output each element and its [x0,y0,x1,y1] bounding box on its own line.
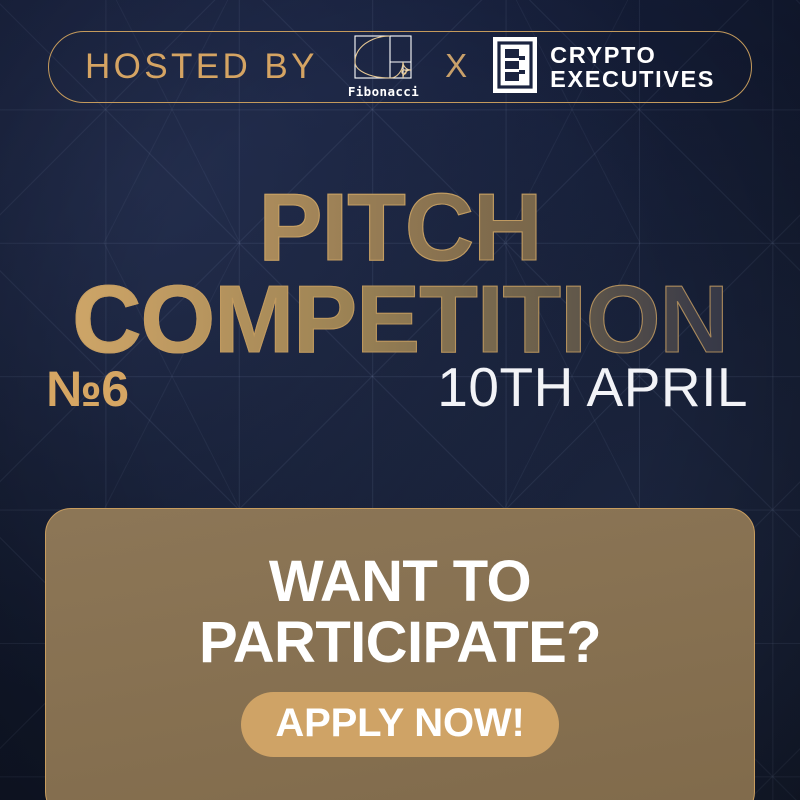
crypto-executives-line-1: CRYPTO [550,43,715,67]
golden-spiral-icon [354,35,412,84]
event-meta-row: №6 10TH APRIL [46,360,752,415]
fibonacci-wordmark: Fibonacci [348,86,419,99]
crypto-executives-line-2: EXECUTIVES [550,67,715,91]
crypto-executives-e-icon [493,37,537,98]
collab-separator: X [445,49,467,86]
title-line-pitch: PITCH [0,186,800,270]
hosted-by-label: HOSTED BY [85,49,318,86]
fibonacci-logo[interactable]: Fibonacci [348,35,419,99]
title-line-competition: COMPETITION [0,278,800,362]
pitch-competition-poster: HOSTED BY [0,0,800,800]
call-to-action-card: WANT TO PARTICIPATE? APPLY NOW! [45,508,755,800]
crypto-executives-logo[interactable]: CRYPTO EXECUTIVES [493,37,715,98]
hosted-by-banner: HOSTED BY [48,31,752,103]
cta-headline-line-2: PARTICIPATE? [199,612,601,673]
cta-headline-line-1: WANT TO [269,551,531,612]
poster-title: PITCH COMPETITION [0,186,800,363]
apply-now-button[interactable]: APPLY NOW! [241,692,558,757]
event-date: 10TH APRIL [437,360,752,415]
issue-number: №6 [46,364,129,414]
crypto-executives-wordmark: CRYPTO EXECUTIVES [550,43,715,92]
